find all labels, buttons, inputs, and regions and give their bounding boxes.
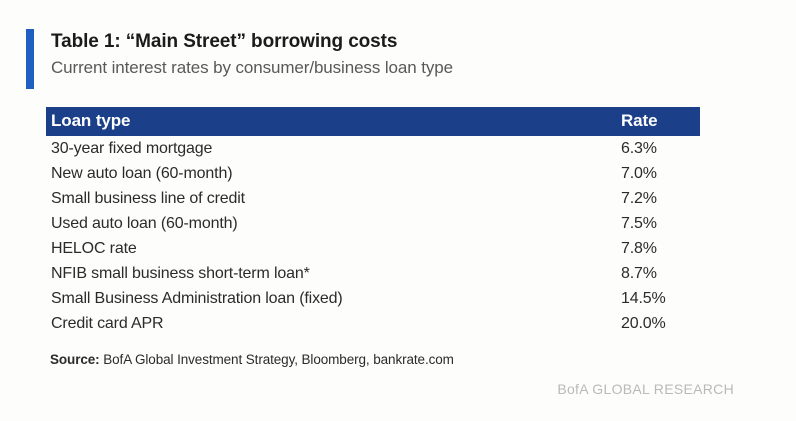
- cell-rate: 20.0%: [613, 311, 700, 336]
- cell-rate: 6.3%: [613, 136, 700, 161]
- title-text-group: Table 1: “Main Street” borrowing costs C…: [34, 29, 453, 89]
- table-row: Credit card APR20.0%: [46, 311, 700, 336]
- bofa-global-research-watermark: BofA GLOBAL RESEARCH: [557, 381, 734, 397]
- cell-loan-type: Small business line of credit: [46, 186, 613, 211]
- table-row: NFIB small business short-term loan*8.7%: [46, 261, 700, 286]
- page-title: Table 1: “Main Street” borrowing costs: [51, 29, 453, 55]
- cell-rate: 14.5%: [613, 286, 700, 311]
- page-subtitle: Current interest rates by consumer/busin…: [51, 55, 453, 81]
- source-note: Source: BofA Global Investment Strategy,…: [50, 352, 454, 367]
- table-row: HELOC rate7.8%: [46, 236, 700, 261]
- cell-loan-type: 30-year fixed mortgage: [46, 136, 613, 161]
- cell-rate: 7.8%: [613, 236, 700, 261]
- cell-loan-type: NFIB small business short-term loan*: [46, 261, 613, 286]
- cell-loan-type: Credit card APR: [46, 311, 613, 336]
- table-row: Small Business Administration loan (fixe…: [46, 286, 700, 311]
- cell-loan-type: Small Business Administration loan (fixe…: [46, 286, 613, 311]
- accent-bar: [26, 29, 34, 89]
- table-row: New auto loan (60-month)7.0%: [46, 161, 700, 186]
- cell-loan-type: Used auto loan (60-month): [46, 211, 613, 236]
- cell-loan-type: HELOC rate: [46, 236, 613, 261]
- table-row: 30-year fixed mortgage6.3%: [46, 136, 700, 161]
- table-row: Small business line of credit7.2%: [46, 186, 700, 211]
- cell-rate: 7.2%: [613, 186, 700, 211]
- cell-rate: 7.5%: [613, 211, 700, 236]
- source-label: Source:: [50, 352, 100, 367]
- column-header-loan-type: Loan type: [46, 107, 613, 136]
- table-header: Loan type Rate: [46, 107, 700, 136]
- source-text: BofA Global Investment Strategy, Bloombe…: [100, 352, 454, 367]
- borrowing-costs-table: Loan type Rate 30-year fixed mortgage6.3…: [46, 107, 700, 336]
- table-body: 30-year fixed mortgage6.3%New auto loan …: [46, 136, 700, 336]
- cell-rate: 7.0%: [613, 161, 700, 186]
- title-block: Table 1: “Main Street” borrowing costs C…: [26, 29, 726, 89]
- exhibit-container: Table 1: “Main Street” borrowing costs C…: [0, 0, 796, 421]
- cell-rate: 8.7%: [613, 261, 700, 286]
- table-header-row: Loan type Rate: [46, 107, 700, 136]
- cell-loan-type: New auto loan (60-month): [46, 161, 613, 186]
- table-row: Used auto loan (60-month)7.5%: [46, 211, 700, 236]
- column-header-rate: Rate: [613, 107, 700, 136]
